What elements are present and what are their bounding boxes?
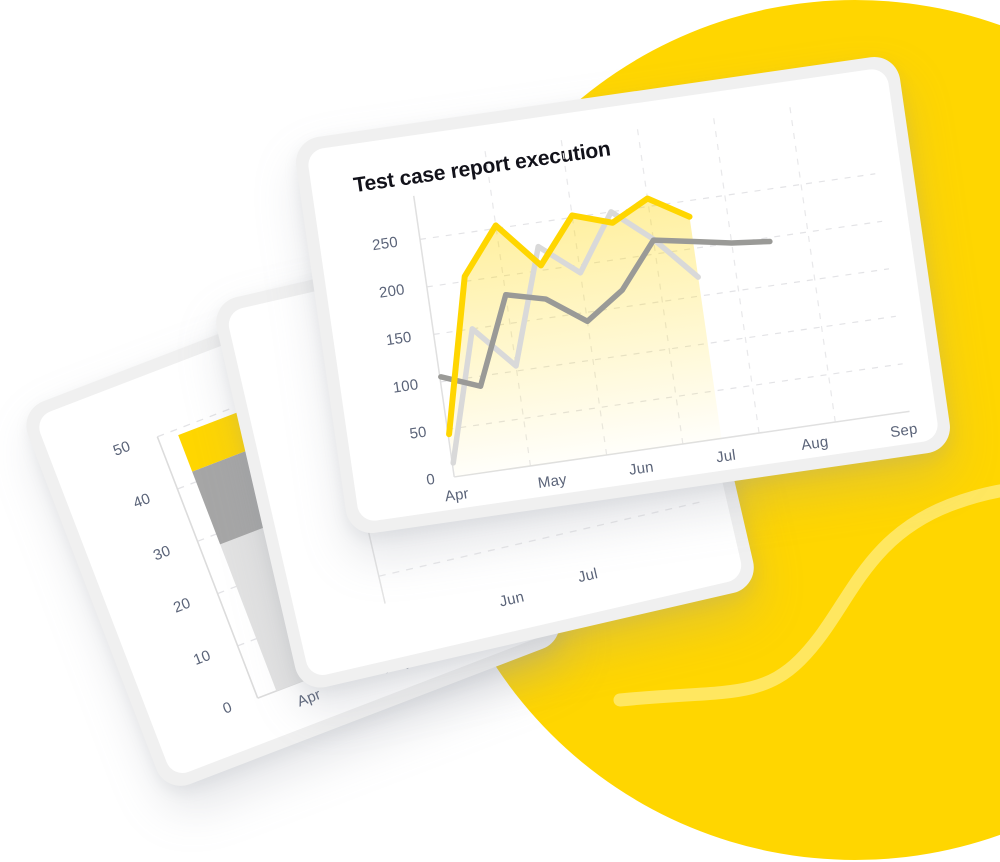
- line-chart-canvas: Test case report execution: [306, 67, 940, 523]
- line-xtick-jul: Jul: [715, 447, 737, 467]
- line-ytick-200: 200: [378, 281, 406, 301]
- illustration-stage: 50 40 30 20 10 0 Apr May Jun: [0, 0, 1000, 862]
- line-xtick-jun: Jun: [628, 458, 655, 478]
- line-ytick-100: 100: [392, 376, 420, 396]
- line-ytick-50: 50: [408, 423, 427, 442]
- line-ytick-250: 250: [371, 234, 399, 254]
- series-executed-area: [420, 193, 722, 477]
- line-ytick-150: 150: [385, 329, 413, 349]
- line-xtick-apr: Apr: [444, 485, 470, 505]
